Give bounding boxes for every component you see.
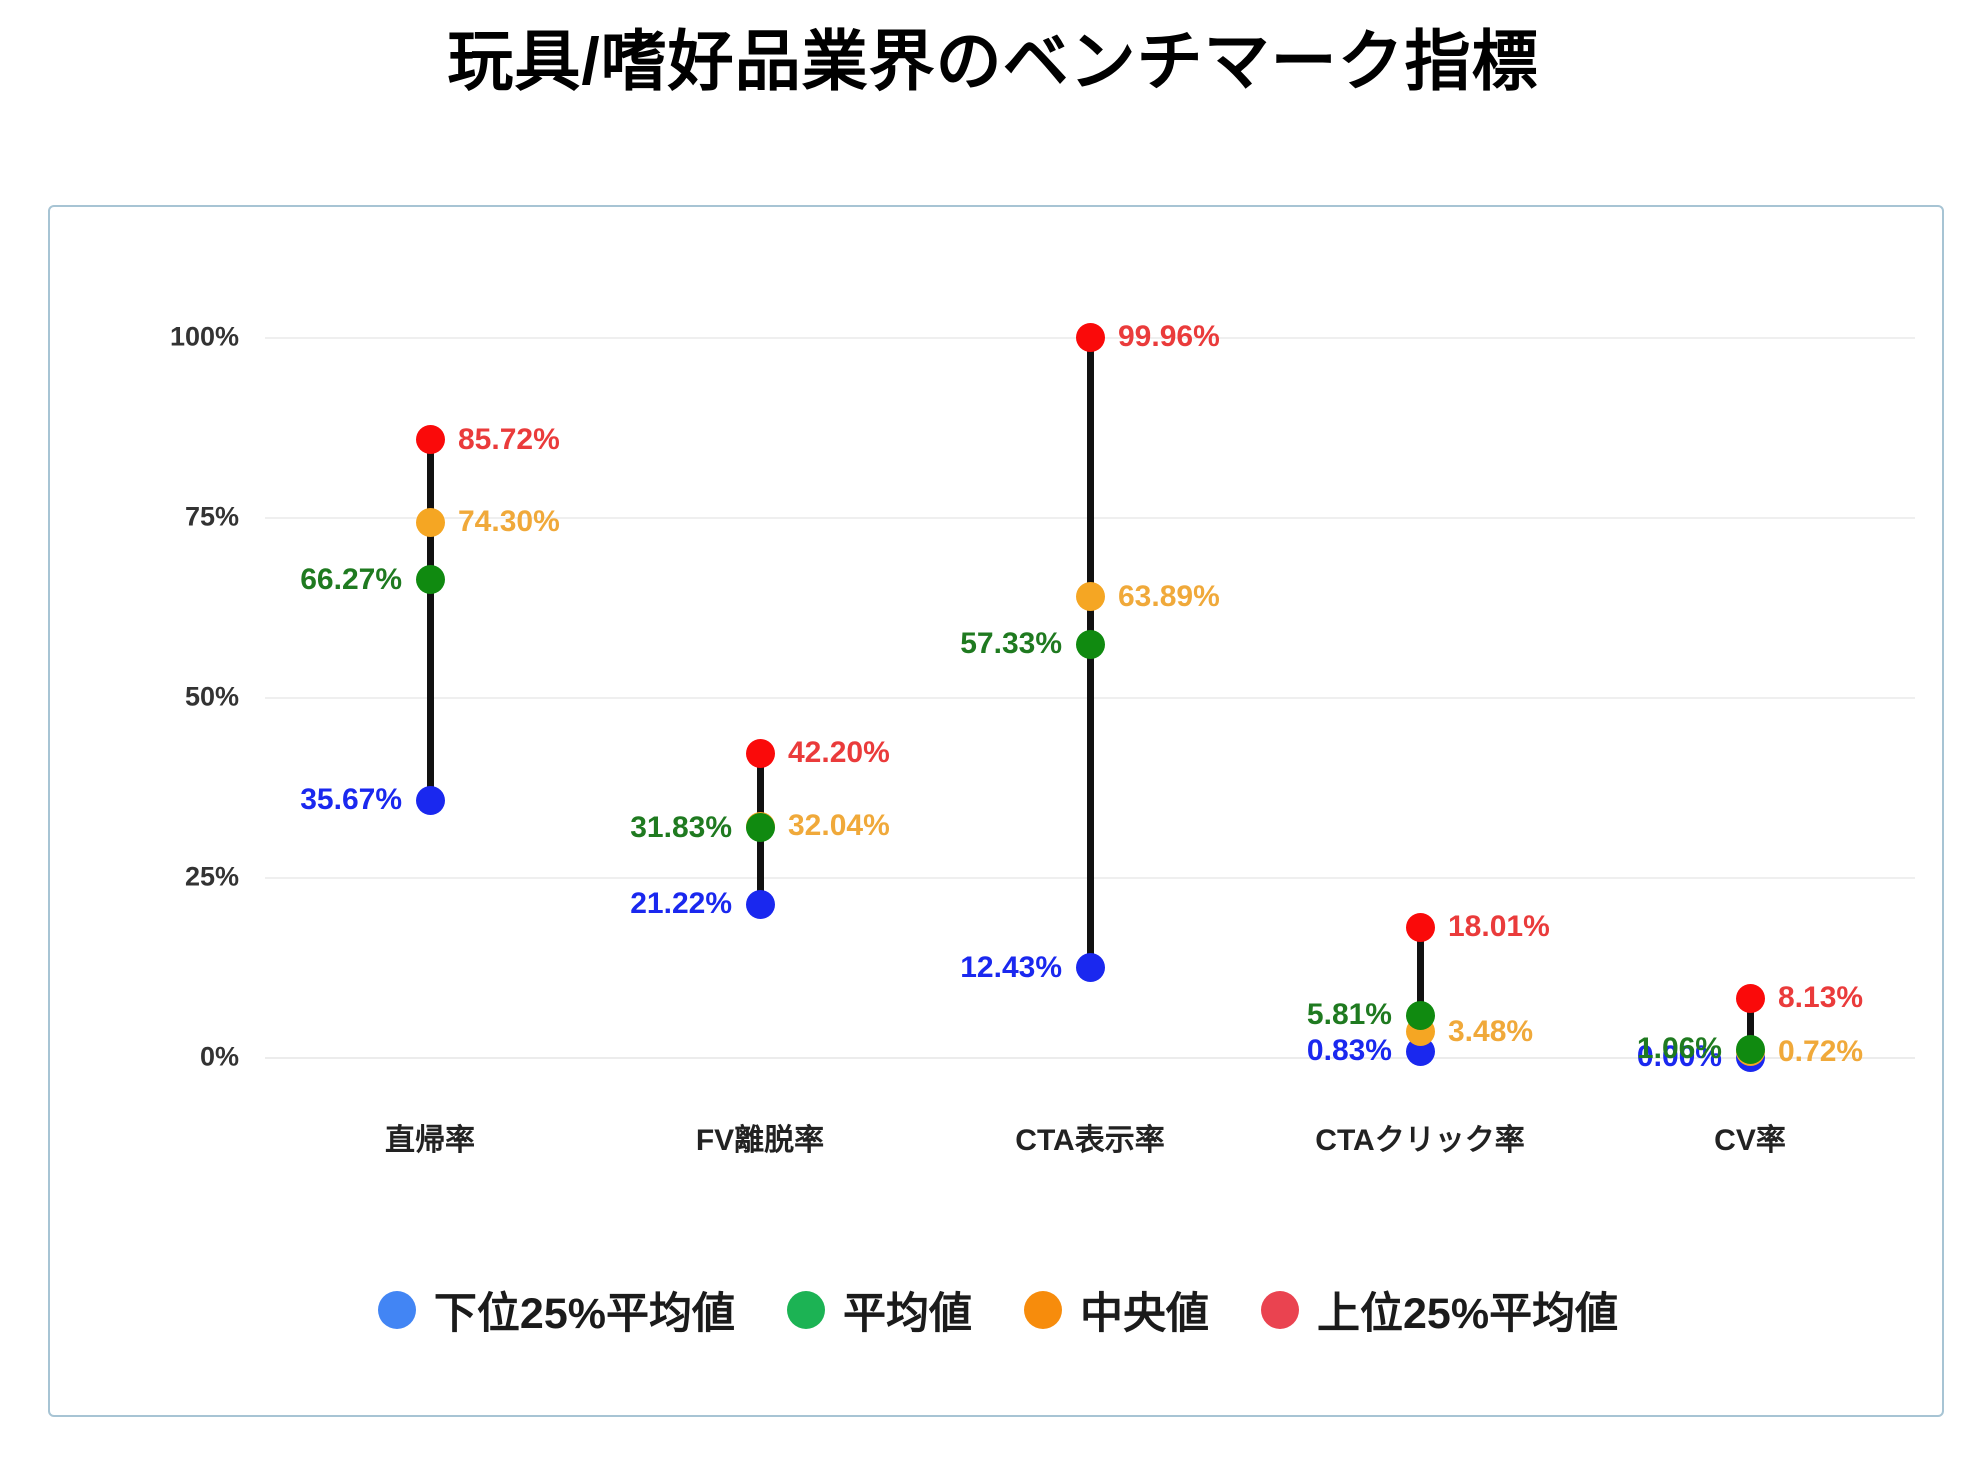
data-label-median: 3.48% — [1448, 1017, 1533, 1047]
data-point-high[interactable] — [416, 425, 445, 454]
data-label-low: 35.67% — [300, 785, 402, 815]
x-axis-label-5: CV率 — [1714, 1115, 1786, 1159]
data-point-median[interactable] — [1076, 582, 1105, 611]
data-point-high[interactable] — [1076, 323, 1105, 352]
chart-legend: 下位25%平均値平均値中央値上位25%平均値 — [50, 1279, 1946, 1341]
data-point-mean[interactable] — [416, 565, 445, 594]
data-point-mean[interactable] — [746, 813, 775, 842]
legend-dot-icon — [1024, 1291, 1062, 1329]
legend-item-2[interactable]: 平均値 — [787, 1279, 972, 1341]
data-point-low[interactable] — [1076, 953, 1105, 982]
legend-item-1[interactable]: 下位25%平均値 — [378, 1279, 735, 1341]
data-point-high[interactable] — [746, 739, 775, 768]
legend-label: 中央値 — [1080, 1279, 1209, 1341]
chart-card: 0%25%50%75%100% 35.67%74.30%66.27%85.72%… — [48, 205, 1944, 1417]
data-point-low[interactable] — [746, 890, 775, 919]
data-label-median: 32.04% — [788, 811, 890, 841]
legend-item-4[interactable]: 上位25%平均値 — [1261, 1279, 1618, 1341]
data-point-mean[interactable] — [1076, 630, 1105, 659]
y-axis-tick-label: 100% — [170, 322, 239, 353]
legend-dot-icon — [378, 1291, 416, 1329]
data-label-low: 12.43% — [960, 953, 1062, 983]
legend-item-3[interactable]: 中央値 — [1024, 1279, 1209, 1341]
data-label-high: 8.13% — [1778, 983, 1863, 1013]
data-label-mean: 5.81% — [1307, 1000, 1392, 1030]
data-label-high: 85.72% — [458, 425, 560, 455]
y-axis-tick-label: 25% — [185, 862, 239, 893]
legend-label: 下位25%平均値 — [434, 1279, 735, 1341]
x-axis-label-1: 直帰率 — [385, 1115, 475, 1159]
data-label-mean: 66.27% — [300, 565, 402, 595]
legend-label: 上位25%平均値 — [1317, 1279, 1618, 1341]
data-label-high: 99.96% — [1118, 322, 1220, 352]
data-point-mean[interactable] — [1406, 1001, 1435, 1030]
data-label-low: 0.83% — [1307, 1036, 1392, 1066]
legend-dot-icon — [787, 1291, 825, 1329]
y-axis-tick-label: 50% — [185, 682, 239, 713]
range-stem — [427, 440, 434, 800]
data-label-mean: 31.83% — [630, 813, 732, 843]
x-axis-label-3: CTA表示率 — [1015, 1115, 1164, 1159]
legend-label: 平均値 — [843, 1279, 972, 1341]
data-label-median: 74.30% — [458, 507, 560, 537]
y-axis-tick-label: 75% — [185, 502, 239, 533]
data-label-low: 21.22% — [630, 889, 732, 919]
data-label-mean: 57.33% — [960, 629, 1062, 659]
data-point-high[interactable] — [1736, 984, 1765, 1013]
data-label-mean: 1.06% — [1637, 1034, 1722, 1064]
data-label-high: 42.20% — [788, 738, 890, 768]
data-label-median: 0.72% — [1778, 1037, 1863, 1067]
page-title: 玩具/嗜好品業界のベンチマーク指標 — [0, 22, 1986, 101]
data-label-median: 63.89% — [1118, 582, 1220, 612]
x-axis-label-4: CTAクリック率 — [1315, 1115, 1524, 1159]
data-point-low[interactable] — [416, 786, 445, 815]
data-point-high[interactable] — [1406, 913, 1435, 942]
data-label-high: 18.01% — [1448, 912, 1550, 942]
data-point-mean[interactable] — [1736, 1035, 1765, 1064]
legend-dot-icon — [1261, 1291, 1299, 1329]
data-point-median[interactable] — [416, 508, 445, 537]
y-axis-tick-label: 0% — [200, 1042, 239, 1073]
plot-inner: 0%25%50%75%100% 35.67%74.30%66.27%85.72%… — [265, 337, 1915, 1057]
plot-area: 0%25%50%75%100% 35.67%74.30%66.27%85.72%… — [265, 337, 1915, 1267]
x-axis-label-2: FV離脱率 — [696, 1115, 824, 1159]
